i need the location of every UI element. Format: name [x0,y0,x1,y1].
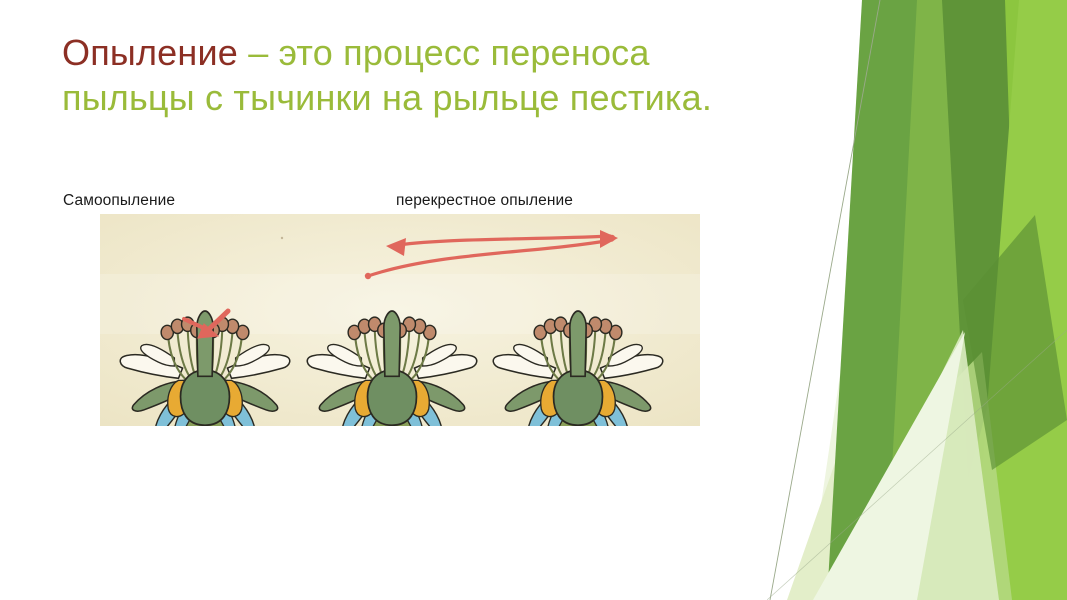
pollination-diagram-image[interactable] [100,214,700,426]
decorative-facet-graphics [767,0,1067,600]
cross-arrow-origin-right [609,235,615,241]
page-title: Опыление – это процесс переноса пыльцы с… [62,30,792,120]
facet-shapes-svg [767,0,1067,600]
slide-canvas: Опыление – это процесс переноса пыльцы с… [0,0,1067,600]
caption-cross-pollination: перекрестное опыление [396,192,573,210]
cross-arrow-origin-left [365,273,371,279]
caption-self-pollination: Самоопыление [63,192,175,210]
title-accent-word: Опыление [62,32,238,73]
paper-speck [281,237,283,239]
pollination-diagram-svg [100,214,700,426]
